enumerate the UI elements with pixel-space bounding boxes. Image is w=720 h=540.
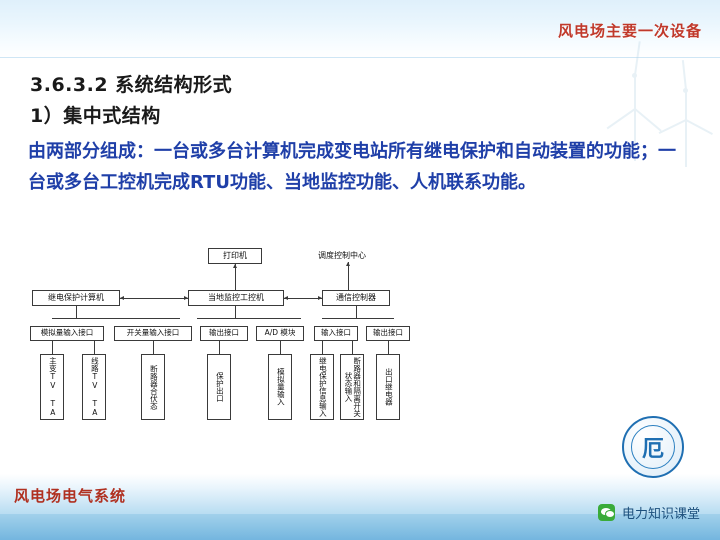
main-transformer-tv-ta-label: 主变TV TA — [48, 357, 57, 417]
input-interface-label: 输入接口 — [321, 329, 351, 338]
body-paragraph: 由两部分组成：一台或多台计算机完成变电站所有继电保护和自动装置的功能；一台或多台… — [28, 136, 688, 198]
protection-computer-box: 继电保护计算机 — [32, 290, 120, 306]
breaker-closed-state-label: 断路器合伏态 — [149, 365, 158, 410]
printer-label: 打印机 — [223, 251, 247, 260]
relay-protection-info-input-box: 继电保护信息输入 — [310, 354, 334, 420]
relay-protection-info-input-label: 继电保护信息输入 — [318, 357, 327, 417]
line-tv-ta-label: 线路TV TA — [90, 357, 99, 417]
main-transformer-tv-ta-box: 主变TV TA — [40, 354, 64, 420]
monitoring-ipc-label: 当地监控工控机 — [208, 293, 264, 302]
output-relay-label: 出口继电器 — [384, 368, 393, 406]
protection-output-box: 保护出口 — [207, 354, 231, 420]
line-tv-ta-box: 线路TV TA — [82, 354, 106, 420]
wechat-icon — [598, 504, 615, 521]
comm-controller-box: 通信控制器 — [322, 290, 390, 306]
monitoring-ipc-box: 当地监控工控机 — [188, 290, 284, 306]
slide: 风电场主要一次设备 3.6.3.2 系统结构形式 1）集中式结构 由两部分组成：… — [0, 0, 720, 540]
subsection-title: 1）集中式结构 — [30, 101, 161, 128]
section-number: 3.6.3.2 系统结构形式 — [30, 70, 232, 97]
footer-wechat: 电力知识课堂 — [598, 503, 700, 522]
analog-input-box: 模拟量输入 — [268, 354, 292, 420]
breaker-closed-state-box: 断路器合伏态 — [141, 354, 165, 420]
output-interface-1-label: 输出接口 — [209, 329, 239, 338]
breaker-isolator-switch-state-input-label: 断路器和隔离开关状态输入 — [343, 357, 360, 417]
printer-box: 打印机 — [208, 248, 262, 264]
input-interface-box: 输入接口 — [314, 326, 358, 341]
output-interface-1-box: 输出接口 — [200, 326, 248, 341]
analog-input-interface-label: 模拟量输入接口 — [41, 329, 94, 338]
footer-wechat-label: 电力知识课堂 — [622, 503, 700, 522]
analog-input-label: 模拟量输入 — [276, 368, 285, 406]
analog-input-interface-box: 模拟量输入接口 — [30, 326, 104, 341]
brand-logo: 厄 — [622, 416, 684, 478]
breaker-isolator-switch-state-input-box: 断路器和隔离开关状态输入 — [340, 354, 364, 420]
ad-module-label: A/D 模块 — [265, 329, 296, 338]
output-relay-box: 出口继电器 — [376, 354, 400, 420]
footer-left-title: 风电场电气系统 — [14, 485, 126, 506]
system-structure-diagram: 打印机 调度控制中心 继电保护计算机 当地监控工控机 通信控制器 — [22, 248, 682, 428]
brand-logo-text: 厄 — [624, 418, 682, 476]
output-interface-2-box: 输出接口 — [366, 326, 410, 341]
comm-controller-label: 通信控制器 — [336, 293, 376, 302]
switch-input-interface-box: 开关量输入接口 — [114, 326, 192, 341]
protection-computer-label: 继电保护计算机 — [48, 293, 104, 302]
dispatch-center-label: 调度控制中心 — [318, 250, 366, 261]
output-interface-2-label: 输出接口 — [373, 329, 403, 338]
ad-module-box: A/D 模块 — [256, 326, 304, 341]
header-title: 风电场主要一次设备 — [558, 20, 702, 41]
top-banner-divider — [0, 57, 720, 58]
protection-output-label: 保护出口 — [215, 372, 224, 402]
switch-input-interface-label: 开关量输入接口 — [127, 329, 180, 338]
